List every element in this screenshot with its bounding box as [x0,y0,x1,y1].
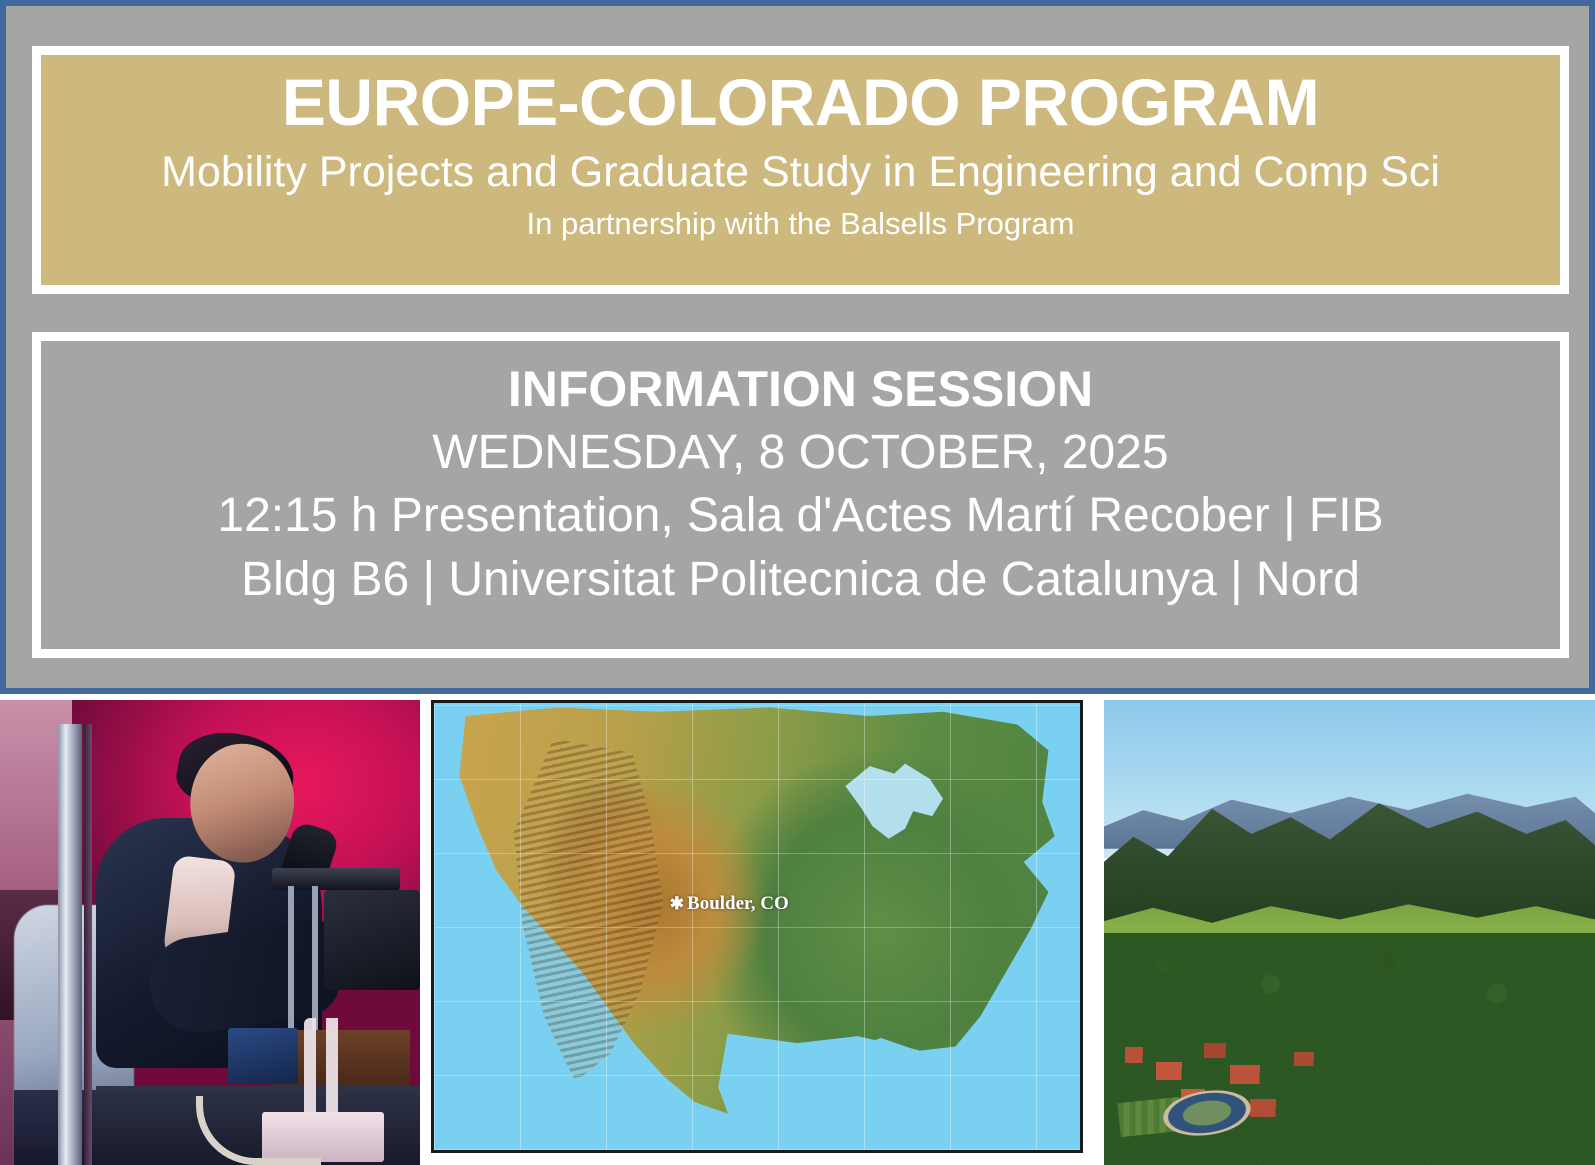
page-title: EUROPE-COLORADO PROGRAM [41,69,1560,135]
session-venue-line-1: 12:15 h Presentation, Sala d'Actes Martí… [41,489,1560,543]
map-marker-label: Boulder, CO [687,893,789,914]
session-date: WEDNESDAY, 8 OCTOBER, 2025 [41,426,1560,480]
session-heading: INFORMATION SESSION [41,363,1560,416]
usa-relief-map: ✱Boulder, CO [431,700,1083,1153]
header-panel: EUROPE-COLORADO PROGRAM Mobility Project… [0,0,1595,694]
optics-block [324,890,420,990]
poster-root: EUROPE-COLORADO PROGRAM Mobility Project… [0,0,1595,1165]
lab-photo [0,700,420,1165]
partnership-line: In partnership with the Balsells Program [41,207,1560,241]
image-strip: ✱Boulder, CO [0,700,1595,1165]
lab-instrument-box [228,1028,298,1084]
campus-buildings [1114,1035,1468,1156]
map-state-borders [434,703,1080,1150]
program-subtitle: Mobility Projects and Graduate Study in … [41,149,1560,195]
boulder-campus-photo [1104,700,1595,1165]
map-marker-boulder: ✱Boulder, CO [670,893,789,915]
lab-frame-rail-shadow [84,724,92,1165]
optics-posts [282,886,338,1034]
map-canvas: ✱Boulder, CO [434,703,1080,1150]
program-title-box: EUROPE-COLORADO PROGRAM Mobility Project… [32,46,1569,294]
star-icon: ✱ [670,894,684,913]
session-venue-line-2: Bldg B6 | Universitat Politecnica de Cat… [41,553,1560,607]
lab-frame-rail [58,724,82,1165]
session-info-box: INFORMATION SESSION WEDNESDAY, 8 OCTOBER… [32,332,1569,658]
